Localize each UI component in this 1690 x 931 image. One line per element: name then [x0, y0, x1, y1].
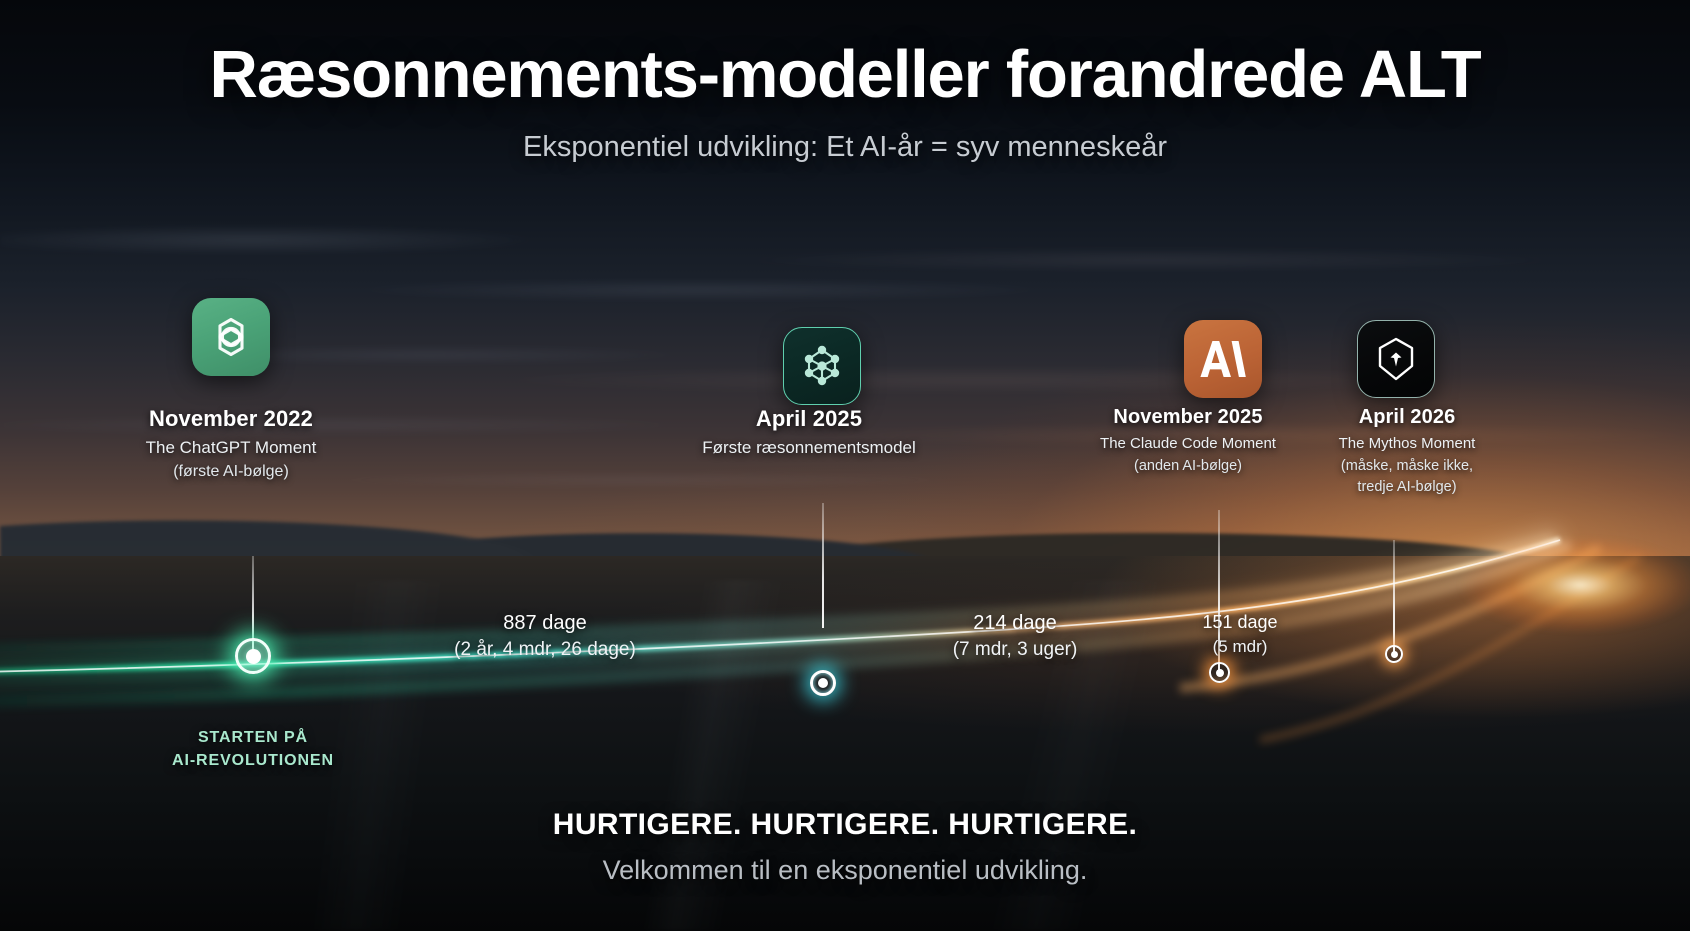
milestone-1-date: November 2022	[61, 406, 401, 432]
anthropic-a-glyph	[1200, 339, 1246, 379]
milestone-1-node[interactable]	[235, 638, 271, 674]
milestone-4-subtitle: The Mythos Moment	[1262, 435, 1552, 452]
interval-3: 151 dage (5 mdr)	[1155, 612, 1325, 657]
interval-3-days: 151 dage	[1155, 612, 1325, 633]
interval-2-days: 214 dage	[900, 612, 1130, 635]
start-caption-line-1: STARTEN PÅ	[113, 727, 393, 750]
interval-2: 214 dage (7 mdr, 3 uger)	[900, 612, 1130, 661]
openai-knot-glyph	[205, 311, 257, 363]
milestone-3-node[interactable]	[1209, 662, 1230, 683]
footer: HURTIGERE. HURTIGERE. HURTIGERE. Velkomm…	[0, 808, 1690, 886]
page-title: Ræsonnements-modeller forandrede ALT	[0, 36, 1690, 113]
milestone-1-subtitle: The ChatGPT Moment	[61, 438, 401, 458]
milestone-3-node-dot	[1216, 669, 1224, 677]
network-graph-glyph	[796, 340, 848, 392]
interval-3-breakdown: (5 mdr)	[1155, 637, 1325, 657]
milestone-2-date: April 2025	[639, 406, 979, 432]
milestone-1-node-ring	[235, 638, 271, 674]
milestone-4-node-ring	[1385, 645, 1403, 663]
milestone-2-text: April 2025 Første ræsonnementsmodel	[639, 406, 979, 458]
milestone-2-connector	[822, 503, 824, 628]
mythos-hexagon-icon	[1357, 320, 1435, 398]
interval-2-breakdown: (7 mdr, 3 uger)	[900, 639, 1130, 661]
interval-1-days: 887 dage	[400, 612, 690, 635]
milestone-4-connector	[1393, 540, 1395, 652]
start-caption-line-2: AI-REVOLUTIONEN	[113, 750, 393, 773]
milestone-2-node-ring	[810, 670, 836, 696]
milestone-1-node-dot	[246, 649, 261, 664]
milestone-4-date: April 2026	[1262, 406, 1552, 429]
page-subtitle: Eksponentiel udvikling: Et AI-år = syv m…	[0, 131, 1690, 164]
milestone-4-node[interactable]	[1385, 645, 1403, 663]
interval-1-breakdown: (2 år, 4 mdr, 26 dage)	[400, 639, 690, 661]
interval-1: 887 dage (2 år, 4 mdr, 26 dage)	[400, 612, 690, 661]
footer-subline: Velkommen til en eksponentiel udvikling.	[0, 855, 1690, 886]
header: Ræsonnements-modeller forandrede ALT Eks…	[0, 0, 1690, 164]
milestone-2-node[interactable]	[810, 670, 836, 696]
start-caption: STARTEN PÅ AI-REVOLUTIONEN	[113, 727, 393, 772]
openai-logo-icon	[192, 298, 270, 376]
milestone-4-text: April 2026 The Mythos Moment (måske, mås…	[1262, 406, 1552, 498]
anthropic-logo-icon	[1184, 320, 1262, 398]
reasoning-network-icon	[783, 327, 861, 405]
milestone-4-note-line2: tredje AI-bølge)	[1262, 478, 1552, 497]
milestone-2-subtitle: Første ræsonnementsmodel	[639, 438, 979, 458]
milestone-3-node-ring	[1209, 662, 1230, 683]
milestone-1-text: November 2022 The ChatGPT Moment (første…	[61, 406, 401, 481]
mythos-hexagon-glyph	[1372, 335, 1420, 383]
infographic-canvas: Ræsonnements-modeller forandrede ALT Eks…	[0, 0, 1690, 931]
milestone-2-node-dot	[818, 678, 828, 688]
footer-tagline: HURTIGERE. HURTIGERE. HURTIGERE.	[0, 808, 1690, 842]
milestone-1-note: (første AI-bølge)	[61, 463, 401, 481]
milestone-4-node-dot	[1391, 651, 1398, 658]
milestone-4-note: (måske, måske ikke,	[1262, 457, 1552, 476]
